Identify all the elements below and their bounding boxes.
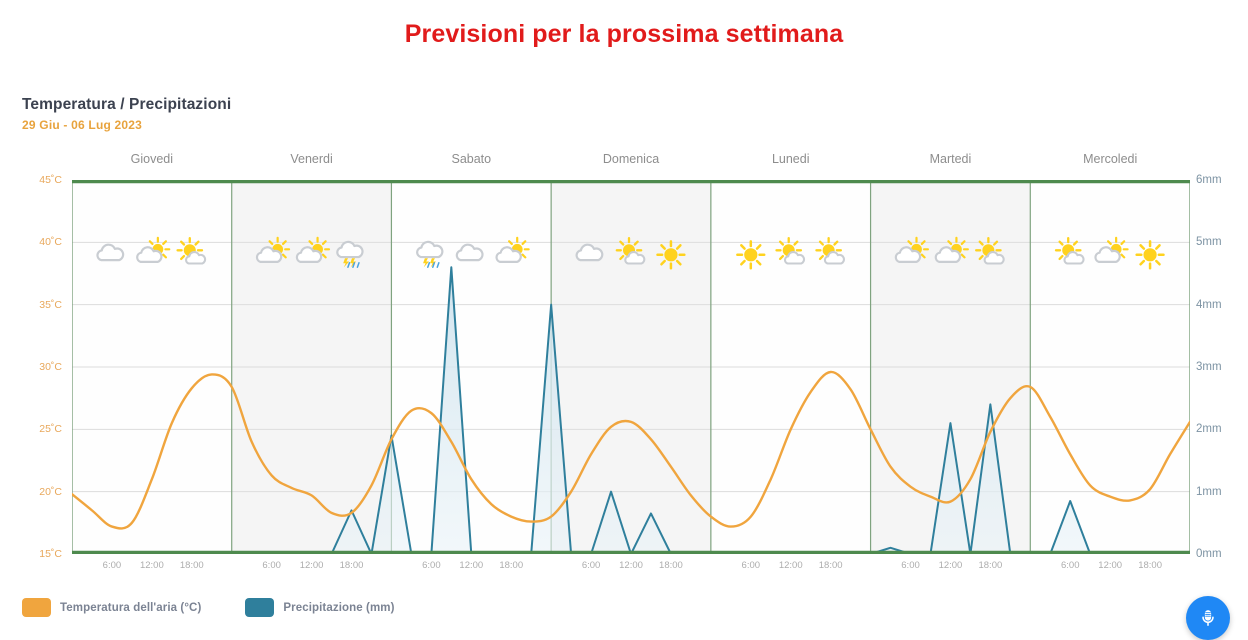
- hour-ticks-martedi: 6:0012:0018:00: [871, 560, 1031, 576]
- hour-tick: 6:00: [582, 560, 601, 571]
- temperature-tick-label: 35˚C: [39, 299, 62, 311]
- sun-disc: [664, 248, 677, 261]
- chart-legend: Temperatura dell'aria (°C)Precipitazione…: [22, 598, 395, 617]
- legend-label: Precipitazione (mm): [283, 602, 394, 614]
- temperature-tick-label: 45˚C: [39, 174, 62, 186]
- chart-date-range: 29 Giu - 06 Lug 2023: [22, 118, 231, 132]
- legend-item-temperature[interactable]: Temperatura dell'aria (°C): [22, 598, 201, 617]
- hour-tick: 18:00: [659, 560, 683, 571]
- hour-tick: 12:00: [779, 560, 803, 571]
- hour-tick: 12:00: [140, 560, 164, 571]
- hour-ticks-venerdi: 6:0012:0018:00: [232, 560, 392, 576]
- day-label-mercoledi: Mercoledi: [1030, 152, 1190, 172]
- microphone-icon: [1197, 607, 1219, 629]
- precipitation-tick-label: 1mm: [1196, 486, 1222, 498]
- hour-tick: 18:00: [1138, 560, 1162, 571]
- precipitation-tick-label: 0mm: [1196, 548, 1222, 560]
- hour-tick: 12:00: [300, 560, 324, 571]
- legend-item-precipitation[interactable]: Precipitazione (mm): [245, 598, 394, 617]
- temperature-tick-label: 30˚C: [39, 361, 62, 373]
- hour-ticks-mercoledi: 6:0012:0018:00: [1030, 560, 1190, 576]
- precipitation-tick-label: 5mm: [1196, 236, 1222, 248]
- precipitation-tick-label: 6mm: [1196, 174, 1222, 186]
- precipitation-tick-label: 3mm: [1196, 361, 1222, 373]
- precipitation-axis: 6mm5mm4mm3mm2mm1mm0mm: [1190, 172, 1248, 562]
- precipitation-tick-label: 4mm: [1196, 299, 1222, 311]
- temperature-axis: 45˚C40˚C35˚C30˚C25˚C20˚C15˚C: [0, 172, 68, 562]
- temperature-tick-label: 15˚C: [39, 548, 62, 560]
- legend-swatch: [22, 598, 51, 617]
- hour-tick: 18:00: [978, 560, 1002, 571]
- hour-tick: 6:00: [742, 560, 761, 571]
- chart-header: Temperatura / Precipitazioni 29 Giu - 06…: [22, 96, 231, 132]
- hour-tick: 6:00: [1061, 560, 1080, 571]
- legend-label: Temperatura dell'aria (°C): [60, 602, 201, 614]
- hour-ticks-domenica: 6:0012:0018:00: [551, 560, 711, 576]
- hour-tick: 6:00: [901, 560, 920, 571]
- legend-swatch: [245, 598, 274, 617]
- sun-disc: [1143, 248, 1156, 261]
- day-label-venerdi: Venerdi: [232, 152, 392, 172]
- day-labels-row: GiovediVenerdiSabatoDomenicaLunediMarted…: [72, 152, 1190, 172]
- day-label-lunedi: Lunedi: [711, 152, 871, 172]
- chart-heading: Temperatura / Precipitazioni: [22, 96, 231, 114]
- day-label-giovedi: Giovedi: [72, 152, 232, 172]
- hour-tick: 12:00: [459, 560, 483, 571]
- hour-tick: 18:00: [180, 560, 204, 571]
- weather-icon-sun: [658, 241, 685, 268]
- hour-tick: 12:00: [619, 560, 643, 571]
- hour-tick: 18:00: [340, 560, 364, 571]
- hour-tick: 6:00: [262, 560, 281, 571]
- sun-disc: [744, 248, 757, 261]
- day-label-martedi: Martedi: [871, 152, 1031, 172]
- weather-chart-svg: [72, 180, 1190, 554]
- hour-ticks-lunedi: 6:0012:0018:00: [711, 560, 871, 576]
- hour-tick: 18:00: [819, 560, 843, 571]
- precipitation-tick-label: 2mm: [1196, 423, 1222, 435]
- temperature-tick-label: 20˚C: [39, 486, 62, 498]
- plot-area: [72, 180, 1190, 554]
- hour-ticks-giovedi: 6:0012:0018:00: [72, 560, 232, 576]
- microphone-fab-button[interactable]: [1186, 596, 1230, 640]
- day-label-domenica: Domenica: [551, 152, 711, 172]
- hour-ticks-sabato: 6:0012:0018:00: [391, 560, 551, 576]
- temperature-tick-label: 40˚C: [39, 236, 62, 248]
- hour-tick: 18:00: [499, 560, 523, 571]
- day-label-sabato: Sabato: [391, 152, 551, 172]
- hour-tick: 6:00: [422, 560, 441, 571]
- weather-icon-sun: [737, 241, 764, 268]
- weather-icon-sun: [1137, 241, 1164, 268]
- chart-plot-wrapper: 45˚C40˚C35˚C30˚C25˚C20˚C15˚C 6mm5mm4mm3m…: [0, 172, 1248, 562]
- temperature-tick-label: 25˚C: [39, 423, 62, 435]
- hour-tick: 6:00: [103, 560, 122, 571]
- hour-tick: 12:00: [939, 560, 963, 571]
- page-title: Previsioni per la prossima settimana: [0, 20, 1248, 49]
- hour-ticks-row: 6:0012:0018:006:0012:0018:006:0012:0018:…: [72, 560, 1190, 576]
- hour-tick: 12:00: [1098, 560, 1122, 571]
